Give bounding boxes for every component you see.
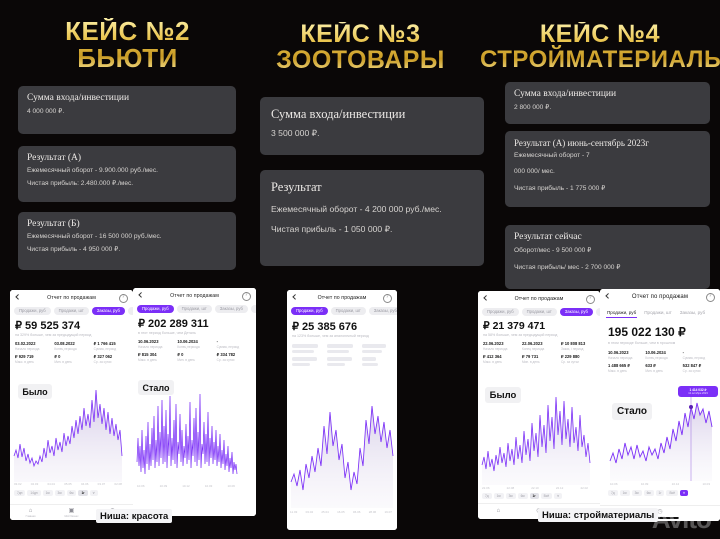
stat-value: 10.06.2023 bbox=[608, 350, 641, 355]
back-arrow-icon[interactable] bbox=[605, 293, 610, 301]
range-1m[interactable]: 1м bbox=[494, 493, 504, 499]
chart-x-axis: 10.06 10.09 10.12 10.03 10.06 bbox=[137, 484, 235, 488]
axis-tick: 10.12 bbox=[182, 484, 190, 488]
range-1y[interactable]: 1г bbox=[530, 493, 539, 499]
tab-orders-rub[interactable]: Заказы, руб bbox=[679, 309, 706, 317]
axis-tick: 10.06 bbox=[227, 484, 235, 488]
back-arrow-icon[interactable] bbox=[15, 294, 20, 302]
redacted-bar bbox=[362, 350, 382, 353]
case-title-3-line1: КЕЙС №3 bbox=[253, 22, 468, 48]
case-2-card-result-a: Результат (А) Ежемесячный оборот - 9.900… bbox=[18, 146, 236, 202]
nav-title: Отчет по продажам bbox=[47, 295, 96, 301]
axis-tick: 10.03 bbox=[702, 482, 710, 486]
card-row: 2 800 000 ₽. bbox=[514, 103, 701, 111]
axis-tick: 25.04 bbox=[321, 510, 329, 514]
range-1m[interactable]: 1м bbox=[620, 490, 630, 496]
stat-col: ₽ 10 808 813 Заказ, і период ₽ 229 880 С… bbox=[561, 341, 596, 366]
stat-label: Конец периода bbox=[177, 345, 212, 349]
range-6m[interactable]: 6м bbox=[644, 490, 654, 496]
range-3m[interactable]: 3м bbox=[632, 490, 642, 496]
stat-grid: 03.02.2022 Начало периода ₽ 929 719 Макс… bbox=[15, 341, 129, 366]
card-row: Чистая прибыль: 2.480.000 ₽./мес. bbox=[27, 179, 227, 187]
nav-title: Отчет по продажам bbox=[318, 295, 367, 301]
range-1y[interactable]: 1г bbox=[656, 490, 665, 496]
home-icon: ⌂ bbox=[478, 508, 519, 515]
card-heading: Результат (А) bbox=[27, 153, 227, 163]
sub-value: в этот период больше, чем Деталь bbox=[138, 331, 196, 335]
tab-sales-rub[interactable]: Продажи, руб bbox=[482, 308, 519, 316]
stat-label: Макс. в день bbox=[138, 358, 173, 362]
screenshot-case2-after[interactable]: Отчет по продажам Продажи, руб Продажи, … bbox=[133, 288, 256, 516]
metric-tabs[interactable]: Продажи, руб Продажи, шт Заказы, руб bbox=[600, 306, 720, 319]
big-value: ₽ 21 379 471 bbox=[483, 320, 545, 332]
stat-value: 03.02.2022 bbox=[15, 341, 50, 346]
range-all[interactable]: ∀ bbox=[90, 490, 98, 496]
stat-col: 10.06.2024 Конец периода 633 ₽ Мин. в де… bbox=[645, 350, 678, 375]
range-7d[interactable]: 7дн bbox=[14, 490, 25, 496]
redacted-bar bbox=[327, 357, 352, 361]
metric-tabs[interactable]: Продажи, руб Продажи, шт Заказы, руб Зак… bbox=[10, 305, 133, 316]
card-row: Чистая прибыль/ мес - 2 700 000 ₽ bbox=[514, 263, 701, 271]
tab-orders-pcs[interactable]: Зак bbox=[251, 305, 256, 313]
axis-tick: 03.07 bbox=[98, 482, 106, 486]
redacted-bar bbox=[362, 363, 378, 366]
stat-value: 10.06.2023 bbox=[138, 339, 173, 344]
axis-tick: 03.04 bbox=[306, 510, 314, 514]
card-row: Ежемесячный оборот - 16 500 000 руб./мес… bbox=[27, 233, 227, 240]
card-row: Ежемесячный оборот - 9.900.000 руб./мес. bbox=[27, 167, 227, 174]
stat-grid: 10.06.2023 Начало периода 1 488 665 ₽ Ма… bbox=[608, 350, 716, 375]
range-selector[interactable]: 7д 1м 3м 6м 1г Всё ∀ bbox=[608, 490, 688, 496]
card-heading: Сумма входа/инвестиции bbox=[514, 89, 701, 99]
nav-bar: Отчет по продажам bbox=[133, 288, 256, 303]
tab-orders-rub[interactable]: Заказы, руб bbox=[92, 307, 125, 315]
stat-col: ₽ 1 766 415 Сумма, период ₽ 327 062 Ср. … bbox=[94, 341, 129, 366]
stat-label: Макс. в день bbox=[608, 369, 641, 373]
stat-value: ₽ 0 bbox=[54, 354, 89, 359]
nav-title: Отчет по продажам bbox=[515, 296, 564, 302]
case-title-4: КЕЙС №4 СТРОЙМАТЕРИАЛЫ bbox=[480, 22, 720, 72]
stat-label: Ср. за сутки bbox=[94, 360, 129, 364]
tab-sales-rub[interactable]: Продажи, руб bbox=[14, 307, 51, 315]
stat-grid: 10.06.2023 Начало периода ₽ 815 304 Макс… bbox=[138, 339, 252, 364]
redacted-bar bbox=[292, 363, 310, 366]
big-value: ₽ 59 525 374 bbox=[15, 319, 80, 332]
stat-label: Мин. в день bbox=[177, 358, 212, 362]
range-7d[interactable]: 7д bbox=[608, 490, 618, 496]
axis-tick: 10.06 bbox=[610, 482, 618, 486]
tab-orders-rub[interactable]: Заказы, руб bbox=[369, 307, 397, 315]
redacted-bar bbox=[292, 344, 318, 348]
sub-value: на 329% больше, чем за предыдущий период bbox=[15, 333, 91, 337]
card-row: Чистая прибыль - 1 050 000 ₽. bbox=[271, 224, 473, 235]
stat-label: Мин. в день bbox=[522, 360, 557, 364]
range-3m[interactable]: 3м bbox=[55, 490, 65, 496]
redacted-bar bbox=[327, 344, 353, 348]
range-6m[interactable]: 6м bbox=[518, 493, 528, 499]
stat-col: 22.06.2023 Конец периода ₽ 79 731 Мин. в… bbox=[522, 341, 557, 366]
stat-grid-redacted bbox=[292, 344, 393, 366]
redacted-bar bbox=[327, 363, 345, 366]
redacted-bar bbox=[327, 350, 349, 353]
badge-after: Стало bbox=[138, 380, 174, 395]
card-row: 3 500 000 ₽. bbox=[271, 128, 473, 139]
stat-value: ₽ 929 719 bbox=[15, 354, 50, 359]
stat-label: Макс. в день bbox=[15, 360, 50, 364]
stat-value: 03.08.2022 bbox=[54, 341, 89, 346]
stat-label: Начало периода bbox=[483, 347, 518, 351]
axis-tick: 10.09 bbox=[641, 482, 649, 486]
tabbar-item-business[interactable]: ▣ Мой бизнес bbox=[51, 508, 92, 518]
chart-x-axis: 03.02 04.03 04.04 05.05 04.06 03.07 02.0… bbox=[14, 482, 122, 486]
case-4-card-result-a: Результат (А) июнь-сентябрь 2023г Ежемес… bbox=[505, 131, 710, 207]
card-heading: Результат (А) июнь-сентябрь 2023г bbox=[514, 138, 701, 148]
stat-label: Ср. за сутки bbox=[217, 358, 252, 362]
chart-x-axis: 22.06 22.08 22.10 22.12 22.02 bbox=[482, 486, 588, 490]
badge-before: Было bbox=[485, 387, 521, 403]
axis-tick: 02.08 bbox=[114, 482, 122, 486]
stat-col bbox=[362, 344, 393, 366]
card-row: Чистая прибыль - 4 950 000 ₽. bbox=[27, 245, 227, 253]
stat-col: 03.08.2022 Конец периода ₽ 0 Мин. в день bbox=[54, 341, 89, 366]
chart-x-axis: 11.03 03.04 25.04 16.05 06.06 28.06 19.0… bbox=[290, 510, 392, 514]
stat-value: ₽ 229 880 bbox=[561, 354, 596, 359]
stat-value: 10.06.2024 bbox=[645, 350, 678, 355]
axis-tick: 22.08 bbox=[507, 486, 515, 490]
chart-x-axis: 10.06 10.09 10.12 10.03 bbox=[610, 482, 710, 486]
stat-col: 10.06.2024 Конец периода ₽ 0 Мин. в день bbox=[177, 339, 212, 364]
range-custom[interactable]: ∀ bbox=[680, 490, 688, 496]
range-1y[interactable]: 1г bbox=[78, 490, 87, 496]
nav-title: Отчет по продажам bbox=[632, 294, 688, 300]
stat-label: Сумма, период bbox=[683, 356, 716, 360]
stat-col bbox=[292, 344, 323, 366]
stat-value: 22.06.2023 bbox=[483, 341, 518, 346]
stat-label: Конец периода bbox=[645, 356, 678, 360]
stat-value: 22.06.2023 bbox=[522, 341, 557, 346]
tab-orders-rub[interactable]: Заказы, руб bbox=[215, 305, 248, 313]
case-4-card-result-now: Результат сейчас Оборот/мес - 9 500 000 … bbox=[505, 225, 710, 289]
range-all[interactable]: Всё bbox=[666, 490, 678, 496]
stat-label: Ср. за сутки bbox=[683, 369, 716, 373]
stat-label: Сумма, период bbox=[94, 347, 129, 351]
metric-tabs[interactable]: Продажи, руб Продажи, шт Заказы, руб Зак… bbox=[478, 306, 600, 317]
nav-title: Отчет по продажам bbox=[170, 293, 219, 299]
range-14d[interactable]: 14дн bbox=[27, 490, 40, 496]
redacted-bar bbox=[292, 357, 317, 361]
case-title-3-line2: ЗООТОВАРЫ bbox=[253, 48, 468, 74]
stat-col: 03.02.2022 Начало периода ₽ 929 719 Макс… bbox=[15, 341, 50, 366]
stat-label: Начало периода bbox=[138, 345, 173, 349]
stat-label: Мин. в день bbox=[645, 369, 678, 373]
tabbar-label: Мой бизнес bbox=[51, 515, 92, 518]
axis-tick: 22.10 bbox=[531, 486, 539, 490]
range-all[interactable]: Всё bbox=[541, 493, 553, 499]
tab-orders-rub[interactable]: Заказы, руб bbox=[560, 308, 593, 316]
big-value: 195 022 130 ₽ bbox=[608, 325, 686, 339]
redacted-bar bbox=[292, 350, 314, 353]
stat-value: ₽ 0 bbox=[177, 352, 212, 357]
stat-label: Конец периода bbox=[522, 347, 557, 351]
help-icon[interactable] bbox=[706, 293, 715, 302]
axis-tick: 04.04 bbox=[47, 482, 55, 486]
axis-tick: 04.06 bbox=[81, 482, 89, 486]
sub-value: на 58% больше, чем за предыдущий период bbox=[483, 333, 557, 337]
case-title-3: КЕЙС №3 ЗООТОВАРЫ bbox=[253, 22, 468, 73]
stat-value: 1 488 665 ₽ bbox=[608, 363, 641, 368]
tab-sales-pcs[interactable]: Продажи, шт bbox=[54, 307, 89, 315]
poster-canvas: КЕЙС №2 БЬЮТИ КЕЙС №3 ЗООТОВАРЫ КЕЙС №4 … bbox=[0, 0, 720, 539]
stat-grid: 22.06.2023 Начало периода ₽ 412 364 Макс… bbox=[483, 341, 596, 366]
axis-tick: 22.02 bbox=[580, 486, 588, 490]
case-title-4-line2: СТРОЙМАТЕРИАЛЫ bbox=[480, 48, 720, 72]
stat-value: ₽ 79 731 bbox=[522, 354, 557, 359]
tab-sales-pcs[interactable]: Продажи, шт bbox=[331, 307, 366, 315]
axis-tick: 19.07 bbox=[384, 510, 392, 514]
tab-sales-rub[interactable]: Продажи, руб bbox=[606, 307, 637, 318]
range-3m[interactable]: 3м bbox=[506, 493, 516, 499]
home-icon: ⌂ bbox=[10, 508, 51, 515]
screenshot-case4-after[interactable]: Отчет по продажам Продажи, руб Продажи, … bbox=[600, 289, 720, 521]
tab-sales-pcs[interactable]: Продажи, шт bbox=[643, 309, 673, 317]
stat-col: 10.06.2023 Начало периода 1 488 665 ₽ Ма… bbox=[608, 350, 641, 375]
redacted-bar bbox=[362, 357, 376, 361]
stat-label: Конец периода bbox=[54, 347, 89, 351]
stat-value: ₽ 10 808 813 bbox=[561, 341, 596, 346]
case-3-card-investment: Сумма входа/инвестиции 3 500 000 ₽. bbox=[260, 97, 484, 155]
range-7d[interactable]: 7д bbox=[482, 493, 492, 499]
stat-value: - bbox=[683, 350, 716, 355]
screenshot-case4-before[interactable]: Отчет по продажам Продажи, руб Продажи, … bbox=[478, 291, 600, 519]
case-title-4-line1: КЕЙС №4 bbox=[480, 22, 720, 48]
axis-tick: 10.03 bbox=[205, 484, 213, 488]
card-row: Оборот/мес - 9 500 000 ₽ bbox=[514, 246, 701, 254]
nav-bar: Отчет по продажам bbox=[600, 289, 720, 304]
back-arrow-icon[interactable] bbox=[138, 292, 143, 300]
case-2-card-investment: Сумма входа/инвестиции 4 000 000 ₽. bbox=[18, 86, 236, 134]
case-title-2-line2: БЬЮТИ bbox=[20, 45, 235, 72]
tab-sales-rub[interactable]: Продажи, руб bbox=[137, 305, 174, 313]
range-selector[interactable]: 7д 1м 3м 6м 1г Всё ∀ bbox=[482, 493, 562, 499]
help-icon[interactable] bbox=[242, 292, 251, 301]
card-heading: Результат bbox=[271, 180, 473, 195]
tab-sales-pcs[interactable]: Продажи, шт bbox=[177, 305, 212, 313]
nav-bar: Отчет по продажам bbox=[10, 290, 133, 305]
stat-label: Начало периода bbox=[15, 347, 50, 351]
badge-after: Стало bbox=[612, 403, 652, 420]
card-heading: Результат сейчас bbox=[514, 232, 701, 242]
stat-label: Макс. в день bbox=[483, 360, 518, 364]
nav-bar: Отчет по продажам bbox=[478, 291, 600, 306]
back-arrow-icon[interactable] bbox=[483, 295, 488, 303]
metric-tabs[interactable]: Продажи, руб Продажи, шт Заказы, руб bbox=[287, 305, 397, 316]
big-value: ₽ 202 289 311 bbox=[138, 317, 209, 330]
sales-chart bbox=[289, 386, 395, 508]
stat-col: 10.06.2023 Начало периода ₽ 815 304 Макс… bbox=[138, 339, 173, 364]
card-row: Ежемесячный оборот - 4 200 000 руб./мес. bbox=[271, 204, 473, 214]
nav-bar: Отчет по продажам bbox=[287, 290, 397, 305]
axis-tick: 16.05 bbox=[337, 510, 345, 514]
chart-point-tooltip: 1 414 032 ₽ 12 октября 2023 bbox=[678, 386, 718, 397]
axis-tick: 10.09 bbox=[160, 484, 168, 488]
stat-col: - Сумма, период 532 847 ₽ Ср. за сутки bbox=[683, 350, 716, 375]
axis-tick: 11.03 bbox=[290, 510, 297, 514]
axis-tick: 22.12 bbox=[556, 486, 564, 490]
metric-tabs[interactable]: Продажи, руб Продажи, шт Заказы, руб Зак bbox=[133, 303, 256, 314]
range-6m[interactable]: 6м bbox=[67, 490, 77, 496]
card-heading: Сумма входа/инвестиции bbox=[271, 107, 473, 122]
range-custom[interactable]: ∀ bbox=[554, 493, 562, 499]
case-2-card-result-b: Результат (Б) Ежемесячный оборот - 16 50… bbox=[18, 212, 236, 270]
card-row: Ежемесячный оборот - 7 bbox=[514, 152, 701, 159]
redacted-bar bbox=[362, 344, 386, 348]
stat-value: 532 847 ₽ bbox=[683, 363, 716, 368]
axis-tick: 04.03 bbox=[31, 482, 39, 486]
stat-col bbox=[327, 344, 358, 366]
screenshot-case3[interactable]: Отчет по продажам Продажи, руб Продажи, … bbox=[287, 290, 397, 530]
tab-sales-pcs[interactable]: Продажи, шт bbox=[522, 308, 557, 316]
axis-tick: 28.06 bbox=[369, 510, 377, 514]
card-row: Чистая прибыль - 1 775 000 ₽ bbox=[514, 184, 701, 192]
badge-before: Было bbox=[18, 384, 52, 399]
help-icon[interactable] bbox=[119, 294, 128, 303]
tabbar-item-home[interactable]: ⌂ bbox=[478, 508, 519, 515]
axis-tick: 10.06 bbox=[137, 484, 145, 488]
case-title-2: КЕЙС №2 БЬЮТИ bbox=[20, 18, 235, 71]
axis-tick: 05.05 bbox=[64, 482, 72, 486]
sub-value: на 123% больше, чем за аналогичный перио… bbox=[292, 334, 369, 338]
help-icon[interactable] bbox=[586, 295, 595, 304]
stat-value: - bbox=[217, 339, 252, 344]
range-selector[interactable]: 7дн 14дн 1м 3м 6м 1г ∀ bbox=[14, 490, 98, 496]
tooltip-date: 12 октября 2023 bbox=[681, 392, 715, 395]
stat-col: - Сумма, период ₽ 334 782 Ср. за сутки bbox=[217, 339, 252, 364]
axis-tick: 03.02 bbox=[14, 482, 22, 486]
tabbar-item-home[interactable]: ⌂ Главная bbox=[10, 508, 51, 518]
case-3-card-result: Результат Ежемесячный оборот - 4 200 000… bbox=[260, 170, 484, 266]
card-row: 4 000 000 ₽. bbox=[27, 107, 227, 115]
case-4-card-investment: Сумма входа/инвестиции 2 800 000 ₽. bbox=[505, 82, 710, 124]
stat-value: ₽ 815 304 bbox=[138, 352, 173, 357]
tab-sales-rub[interactable]: Продажи, руб bbox=[291, 307, 328, 315]
card-heading: Сумма входа/инвестиции bbox=[27, 93, 227, 103]
case-title-2-line1: КЕЙС №2 bbox=[20, 18, 235, 45]
stat-value: 633 ₽ bbox=[645, 363, 678, 368]
back-arrow-icon[interactable] bbox=[292, 294, 297, 302]
stat-value: ₽ 334 782 bbox=[217, 352, 252, 357]
axis-tick: 10.12 bbox=[672, 482, 680, 486]
stat-label: Заказ, і период bbox=[561, 347, 596, 351]
stat-value: ₽ 327 062 bbox=[94, 354, 129, 359]
sub-value: в этом периоде больше, чем в прошлом bbox=[608, 341, 675, 345]
card-row: 000 000/ мес. bbox=[514, 168, 701, 175]
niche-label-materials: Ниша: стройматериалы bbox=[538, 508, 658, 522]
range-1m[interactable]: 1м bbox=[43, 490, 53, 496]
axis-tick: 22.06 bbox=[482, 486, 490, 490]
stat-label: Сумма, период bbox=[217, 345, 252, 349]
stat-col: 22.06.2023 Начало периода ₽ 412 364 Макс… bbox=[483, 341, 518, 366]
stat-value: ₽ 412 364 bbox=[483, 354, 518, 359]
niche-label-beauty: Ниша: красота bbox=[96, 509, 172, 523]
stat-label: Начало периода bbox=[608, 356, 641, 360]
help-icon[interactable] bbox=[383, 294, 392, 303]
briefcase-icon: ▣ bbox=[51, 508, 92, 515]
big-value: ₽ 25 385 676 bbox=[292, 320, 357, 333]
stat-value: 10.06.2024 bbox=[177, 339, 212, 344]
stat-value: ₽ 1 766 415 bbox=[94, 341, 129, 346]
card-heading: Результат (Б) bbox=[27, 219, 227, 229]
axis-tick: 06.06 bbox=[353, 510, 361, 514]
stat-label: Мин. в день bbox=[54, 360, 89, 364]
tabbar-label: Главная bbox=[10, 515, 51, 518]
stat-label: Ср. за сутки bbox=[561, 360, 596, 364]
screenshot-case2-before[interactable]: Отчет по продажам Продажи, руб Продажи, … bbox=[10, 290, 133, 520]
